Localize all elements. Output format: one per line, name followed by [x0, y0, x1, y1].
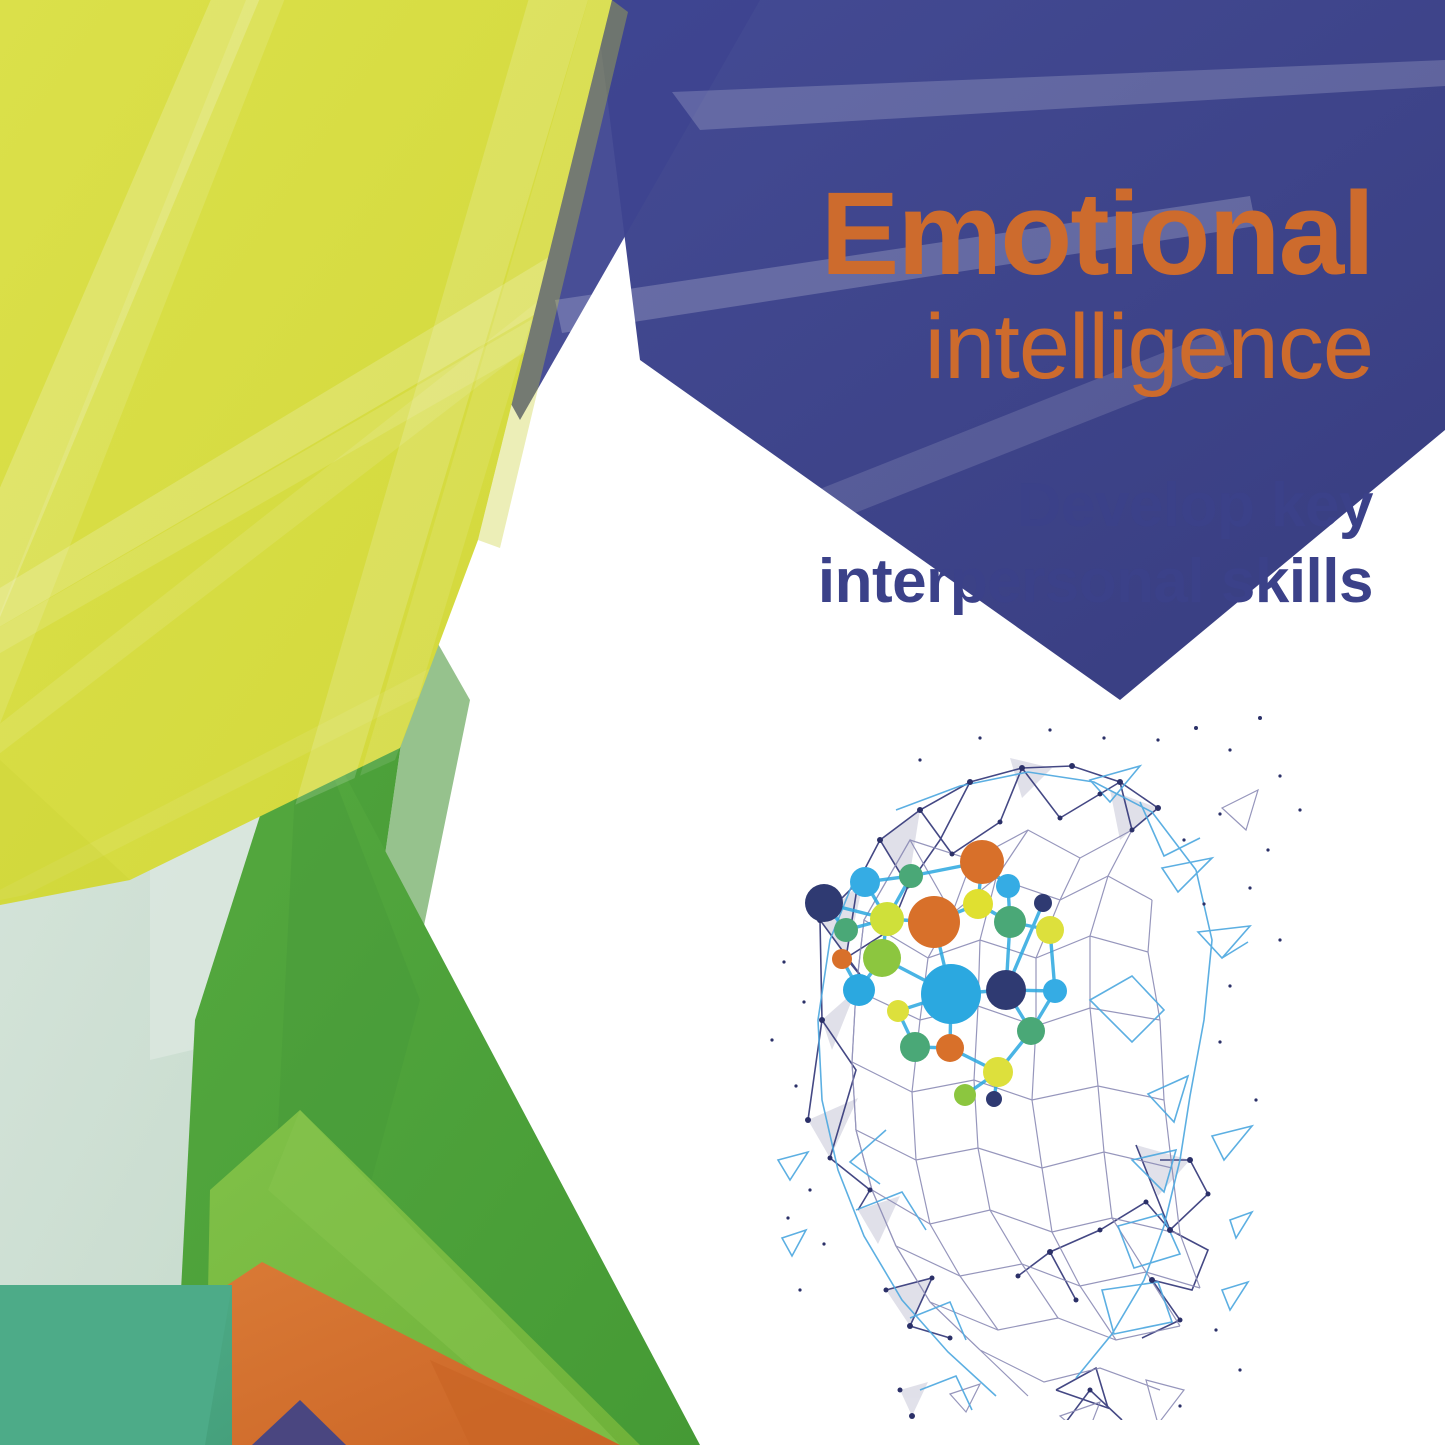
node-yellowgreen-left	[870, 902, 904, 936]
node-orange-top	[960, 840, 1004, 884]
tagline-block: Develop key interpersonal skills	[733, 468, 1373, 619]
node-green-lower	[900, 1032, 930, 1062]
page-title: Emotional	[753, 175, 1373, 293]
node-yellow-right	[1036, 916, 1064, 944]
node-green-upper	[899, 864, 923, 888]
mesh-dots	[770, 716, 1301, 1420]
low-poly-network-head-brain-illustration	[760, 690, 1320, 1420]
tagline-line-1: Develop key	[733, 468, 1373, 544]
page-subtitle: intelligence	[753, 299, 1373, 396]
node-lime-bottom	[954, 1084, 976, 1106]
node-orange-lower	[936, 1034, 964, 1062]
node-blue-left	[843, 974, 875, 1006]
node-blue-upper-right	[996, 874, 1020, 898]
node-yellow-upper	[963, 889, 993, 919]
head-mesh-dark	[808, 766, 1208, 1420]
node-blue-hub	[921, 964, 981, 1024]
poster-canvas: Emotional intelligence Develop key inter…	[0, 0, 1445, 1445]
head-mesh-lightblue	[778, 766, 1252, 1410]
node-yellow-lower-left	[887, 1000, 909, 1022]
network-nodes	[805, 840, 1067, 1107]
node-navy-small-right	[1034, 894, 1052, 912]
node-green-left	[834, 918, 858, 942]
teal-panel	[0, 1285, 232, 1445]
node-lime-left	[863, 939, 901, 977]
node-orange-center	[908, 896, 960, 948]
node-navy-left	[805, 884, 843, 922]
headline-block: Emotional intelligence	[753, 175, 1373, 396]
node-green-right	[994, 906, 1026, 938]
node-green-lower-right	[1017, 1017, 1045, 1045]
node-yellow-bottom	[983, 1057, 1013, 1087]
node-blue-far-right	[1043, 979, 1067, 1003]
node-navy-center-right	[986, 970, 1026, 1010]
tagline-line-2: interpersonal skills	[733, 544, 1373, 620]
node-navy-bottom	[986, 1091, 1002, 1107]
node-orange-small-left	[832, 949, 852, 969]
node-blue-upper-left	[850, 867, 880, 897]
